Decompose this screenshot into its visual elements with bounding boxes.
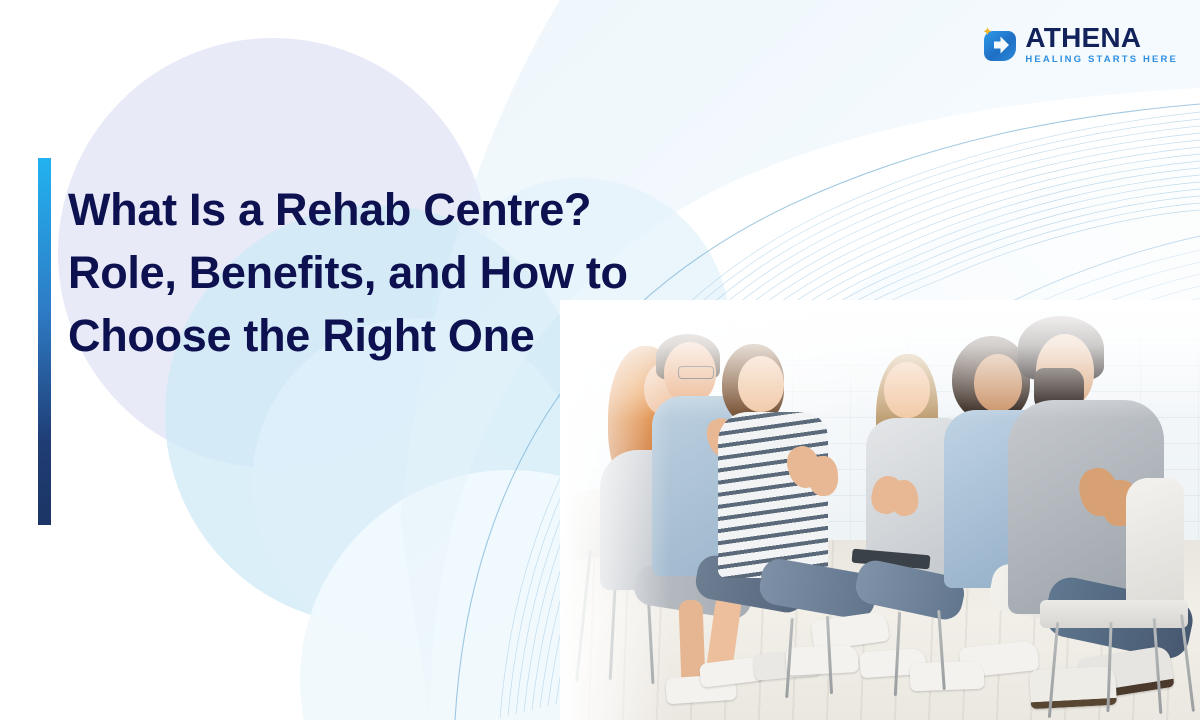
torso-striped: [718, 412, 828, 578]
brand-name: ATHENA: [1025, 24, 1178, 52]
title-accent-bar: [38, 158, 51, 525]
shoe: [1029, 666, 1117, 709]
chair-seat-right: [1040, 600, 1188, 628]
athena-logo-text: ATHENA HEALING STARTS HERE: [1025, 24, 1178, 65]
athena-logo[interactable]: ATHENA HEALING STARTS HERE: [978, 24, 1178, 65]
athena-logo-mark-icon: [978, 24, 1018, 64]
page-title: What Is a Rehab Centre? Role, Benefits, …: [68, 178, 668, 367]
shoe: [910, 661, 985, 692]
brand-tagline: HEALING STARTS HERE: [1025, 55, 1178, 65]
hero-banner: What Is a Rehab Centre? Role, Benefits, …: [0, 0, 1200, 720]
shoe: [785, 644, 858, 676]
sky-circle-decoration-2: [252, 318, 582, 648]
